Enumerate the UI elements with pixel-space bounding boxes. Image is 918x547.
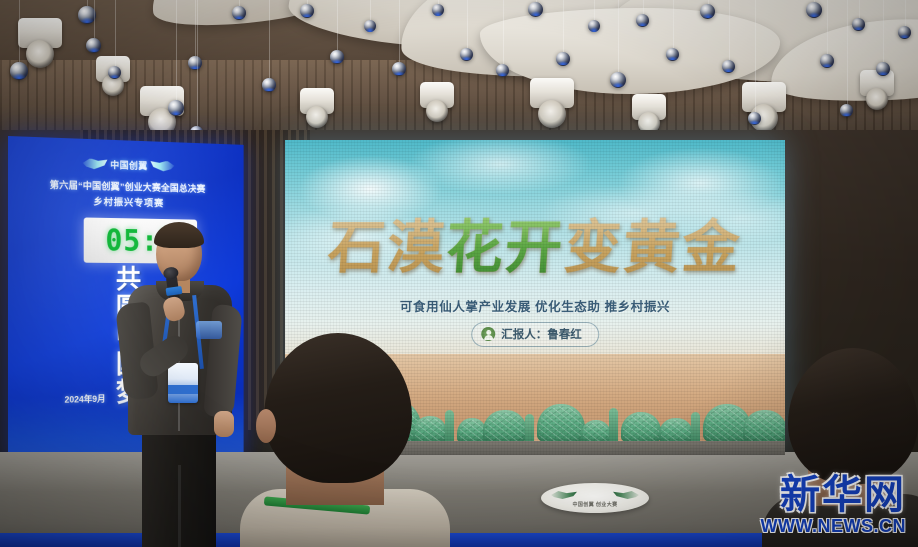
mirror-ball-icon: [610, 72, 626, 88]
audience-ear: [256, 409, 276, 443]
cactus-icon: [445, 410, 454, 444]
stage-photo: 中国创翼 第六届“中国创翼”创业大赛全国总决赛 乡村振兴专项赛 05:5 共圆中…: [0, 0, 918, 547]
cactus-icon: [537, 404, 585, 444]
mirror-ball-icon: [700, 4, 715, 19]
mirror-ball-icon: [666, 48, 679, 61]
speaker-leg-seam: [178, 465, 181, 547]
badge-strip: [168, 385, 198, 394]
wing-icon: [551, 491, 577, 499]
mirror-ball-icon: [556, 52, 570, 66]
spotlight-icon: [632, 94, 666, 120]
speaker-right-hand: [214, 411, 234, 437]
presenter-name: 汇报人：鲁春红: [501, 326, 582, 342]
mirror-ball-icon: [86, 38, 101, 53]
mirror-ball-icon: [748, 112, 761, 125]
audience-member-center: [250, 333, 432, 547]
mirror-ball-icon: [898, 26, 911, 39]
cactus-icon: [483, 410, 527, 444]
floor-logo-text: 中国创翼 创业大赛: [541, 501, 649, 508]
spotlight-icon: [742, 82, 786, 112]
mirror-ball-icon: [188, 56, 202, 70]
competition-logo-text: 中国创翼: [110, 157, 147, 172]
mirror-ball-icon: [364, 20, 376, 32]
cactus-icon: [621, 412, 661, 444]
mirror-ball-icon: [432, 4, 444, 16]
audience-head: [788, 348, 918, 484]
cactus-icon: [525, 414, 534, 444]
wing-icon: [150, 160, 174, 171]
speaker-hair: [154, 222, 204, 248]
slide-subtitle: 可食用仙人掌产业发展 优化生态助 推乡村振兴: [285, 296, 785, 315]
slide-title: 石漠花开变黄金: [285, 202, 785, 284]
mirror-ball-icon: [528, 2, 543, 17]
mirror-ball-icon: [840, 104, 853, 117]
slide-title-char: 开: [503, 214, 567, 281]
mirror-ball-icon: [496, 64, 509, 77]
mirror-ball-icon: [588, 20, 600, 32]
mirror-ball-icon: [392, 62, 406, 76]
wing-icon: [83, 158, 108, 170]
cactus-icon: [691, 412, 700, 444]
speaker-chest-emblem: [196, 321, 222, 339]
watermark-brand: 新华网: [761, 475, 906, 515]
spotlight-icon: [18, 18, 62, 48]
mirror-ball-icon: [330, 50, 344, 64]
spotlight-icon: [420, 82, 454, 108]
mirror-ball-icon: [262, 78, 276, 92]
slide-title-char: 黄: [621, 214, 685, 281]
mirror-ball-icon: [460, 48, 473, 61]
presenter-badge: 汇报人：鲁春红: [471, 322, 599, 347]
mirror-ball-icon: [10, 62, 28, 80]
mirror-ball-icon: [876, 62, 890, 76]
wing-icon: [613, 491, 639, 499]
spotlight-icon: [530, 78, 574, 108]
cactus-icon: [609, 408, 618, 444]
ceiling-rig: [0, 0, 918, 142]
mirror-ball-icon: [820, 54, 834, 68]
mirror-ball-icon: [108, 66, 121, 79]
mirror-ball-icon: [852, 18, 865, 31]
mirror-ball-icon: [300, 4, 314, 18]
mirror-ball-icon: [168, 100, 184, 116]
watermark-url: WWW.NEWS.CN: [761, 517, 906, 535]
spotlight-icon: [300, 88, 334, 114]
slide-title-char: 金: [680, 214, 744, 281]
speaker-id-badge: [168, 363, 198, 403]
speaker-presenter: [112, 225, 252, 547]
slide-title-char: 石: [326, 214, 390, 281]
floor-logo: 中国创翼 创业大赛: [541, 483, 649, 513]
mirror-ball-icon: [636, 14, 649, 27]
person-icon: [481, 327, 495, 341]
mirror-ball-icon: [232, 6, 246, 20]
mirror-ball-icon: [806, 2, 822, 18]
slide-title-char: 漠: [385, 214, 449, 281]
watermark: 新华网 WWW.NEWS.CN: [761, 475, 906, 535]
slide-title-char: 花: [444, 214, 508, 281]
slide-title-char: 变: [562, 214, 626, 281]
audience-head: [264, 333, 412, 483]
mirror-ball-icon: [722, 60, 735, 73]
